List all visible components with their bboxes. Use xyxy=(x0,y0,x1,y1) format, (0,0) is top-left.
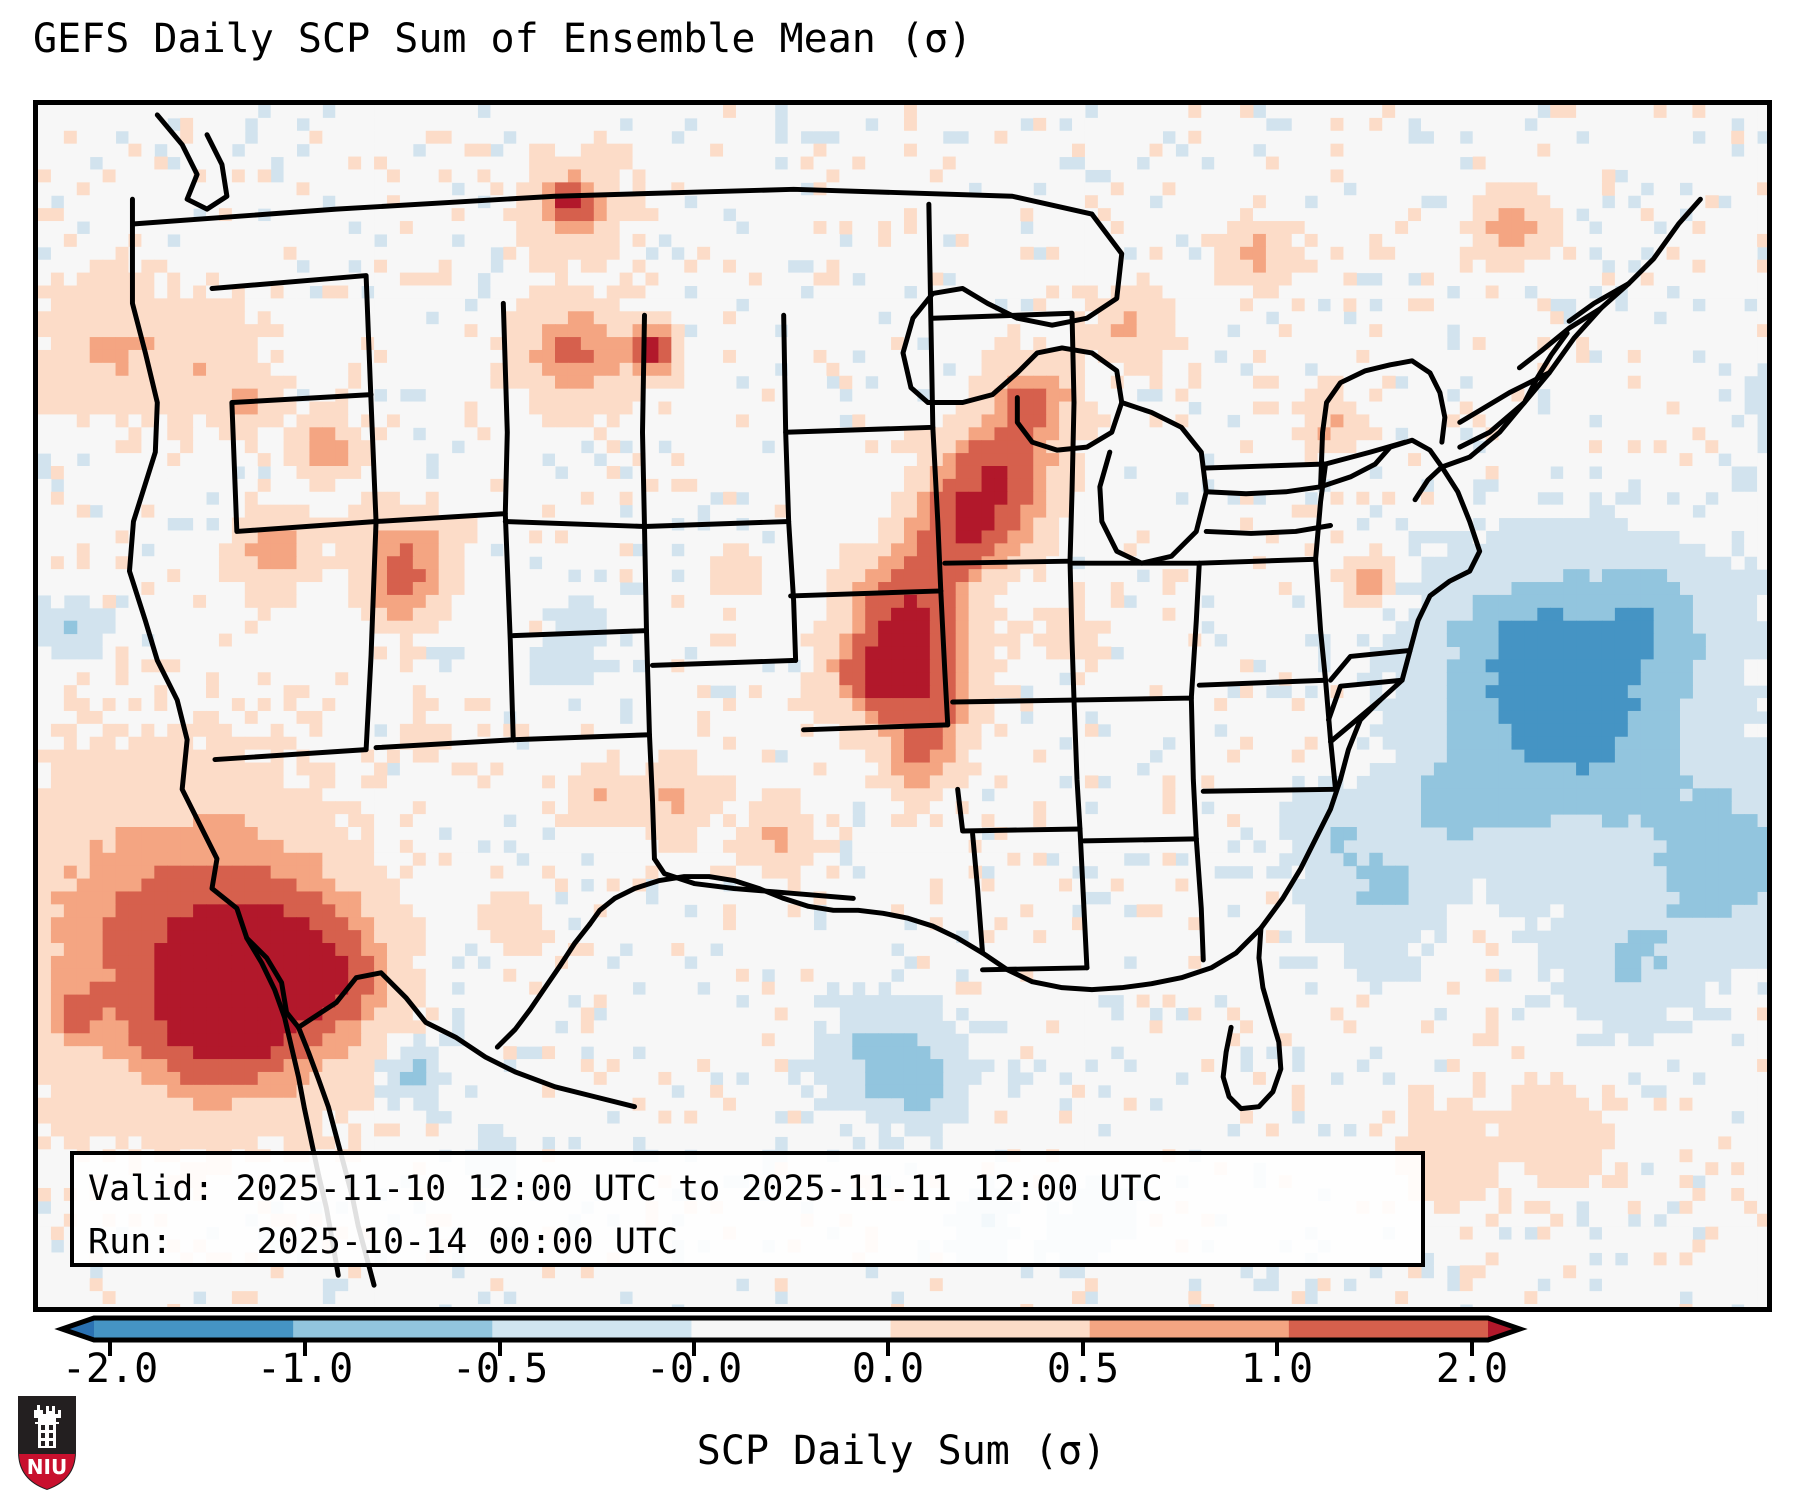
run-time-line: Run: 2025-10-14 00:00 UTC xyxy=(88,1216,1407,1269)
valid-time-line: Valid: 2025-11-10 12:00 UTC to 2025-11-1… xyxy=(88,1163,1407,1216)
colorbar-tick-3: -0.0 xyxy=(646,1346,742,1392)
colorbar-axis-label: SCP Daily Sum (σ) xyxy=(0,1428,1803,1474)
heatmap-cells xyxy=(38,105,1767,1307)
colorbar-tick-4: 0.0 xyxy=(852,1346,924,1392)
colorbar-segments xyxy=(62,1318,1520,1340)
colorbar-tick-6: 1.0 xyxy=(1241,1346,1313,1392)
colorbar-tick-0: -2.0 xyxy=(62,1346,158,1392)
colorbar-tick-5: 0.5 xyxy=(1047,1346,1119,1392)
colorbar-tick-2: -0.5 xyxy=(452,1346,548,1392)
niu-logo: NIU xyxy=(16,1392,78,1492)
page-title: GEFS Daily SCP Sum of Ensemble Mean (σ) xyxy=(33,16,972,62)
colorbar-tick-labels: -2.0-1.0-0.5-0.00.00.51.02.0 xyxy=(0,1346,1803,1406)
colorbar-tick-7: 2.0 xyxy=(1436,1346,1508,1392)
colorbar-tick-1: -1.0 xyxy=(257,1346,353,1392)
map-frame: Valid: 2025-11-10 12:00 UTC to 2025-11-1… xyxy=(33,100,1772,1312)
scp-heatmap xyxy=(38,105,1767,1307)
info-box: Valid: 2025-11-10 12:00 UTC to 2025-11-1… xyxy=(70,1151,1425,1267)
